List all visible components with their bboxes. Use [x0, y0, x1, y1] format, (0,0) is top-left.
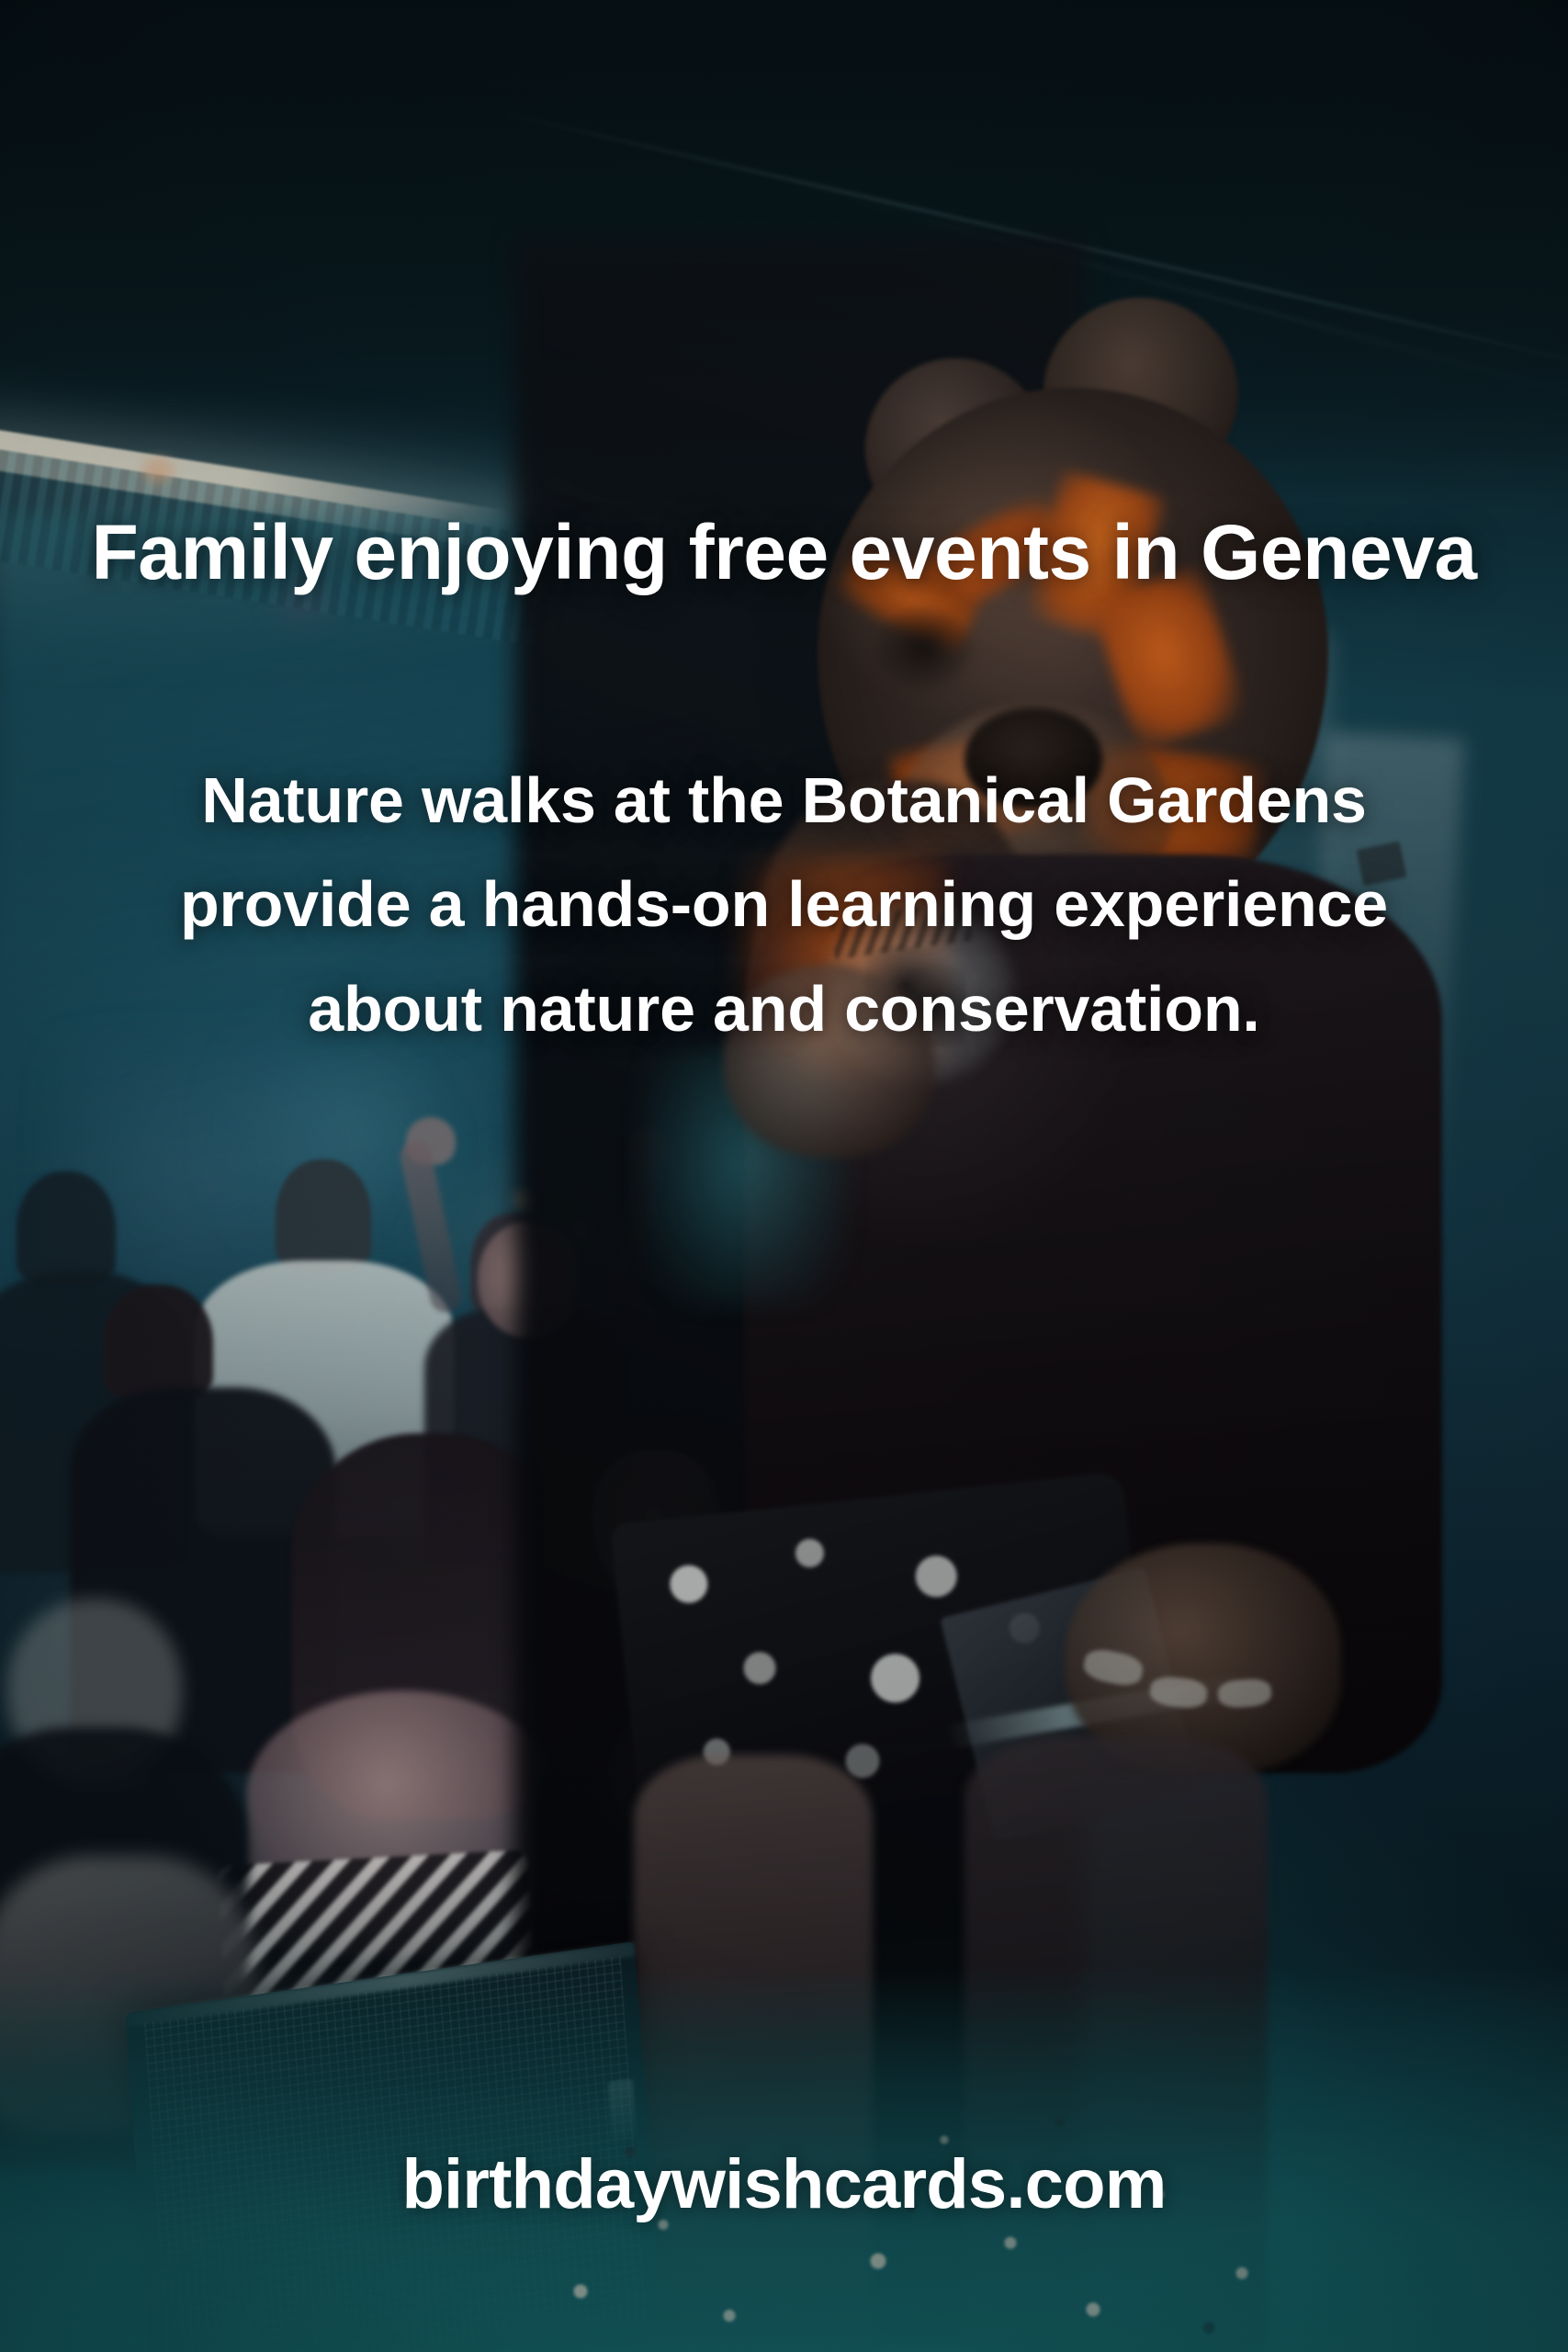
page-title: Family enjoying free events in Geneva	[53, 507, 1515, 599]
website-watermark: birthdaywishcards.com	[0, 2146, 1568, 2223]
footer-container: birthdaywishcards.com	[0, 2146, 1568, 2223]
text-overlay: Family enjoying free events in Geneva Na…	[0, 0, 1568, 2352]
poster-card: Family enjoying free events in Geneva Na…	[0, 0, 1568, 2352]
subtitle-container: Nature walks at the Botanical Gardens pr…	[0, 749, 1568, 1061]
title-container: Family enjoying free events in Geneva	[0, 507, 1568, 599]
page-subtitle: Nature walks at the Botanical Gardens pr…	[138, 749, 1430, 1061]
